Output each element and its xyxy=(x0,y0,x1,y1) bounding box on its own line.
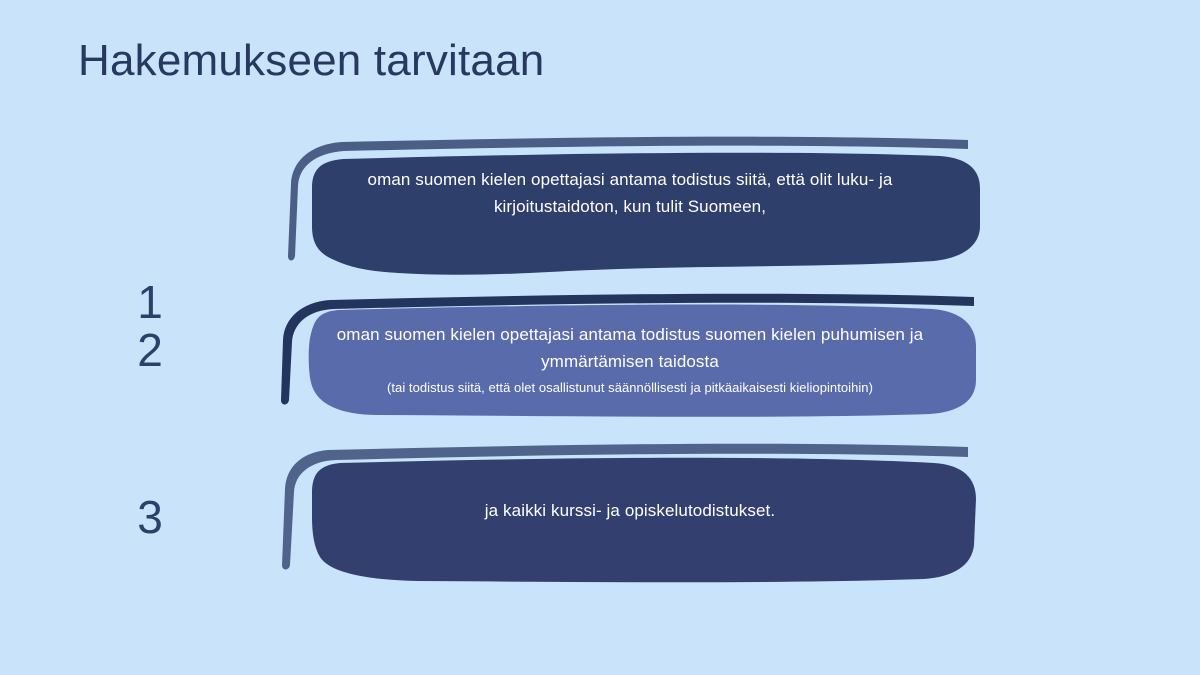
list-item: 1 oman suomen kielen opettajasi antama t… xyxy=(0,126,1200,286)
item-text-3: ja kaikki kurssi- ja opiskelutodistukset… xyxy=(320,497,940,524)
item-note-2: (tai todistus siitä, että olet osallistu… xyxy=(320,378,940,397)
item-card-1: oman suomen kielen opettajasi antama tod… xyxy=(268,126,980,286)
list-item: 3 ja kaikki kurssi- ja opiskelutodistuks… xyxy=(0,437,1200,587)
item-text-1: oman suomen kielen opettajasi antama tod… xyxy=(320,166,940,220)
slide: Hakemukseen tarvitaan 1 oman suomen kiel… xyxy=(0,0,1200,675)
page-title: Hakemukseen tarvitaan xyxy=(78,33,544,89)
item-text-2: oman suomen kielen opettajasi antama tod… xyxy=(320,321,940,375)
item-card-2: oman suomen kielen opettajasi antama tod… xyxy=(268,288,980,420)
item-card-3: ja kaikki kurssi- ja opiskelutodistukset… xyxy=(268,437,980,587)
list-item: 2 oman suomen kielen opettajasi antama t… xyxy=(0,288,1200,420)
item-number-3: 3 xyxy=(110,491,190,543)
item-note-2-wrap: (tai todistus siitä, että olet osallistu… xyxy=(320,376,940,397)
item-number-2: 2 xyxy=(110,324,190,376)
